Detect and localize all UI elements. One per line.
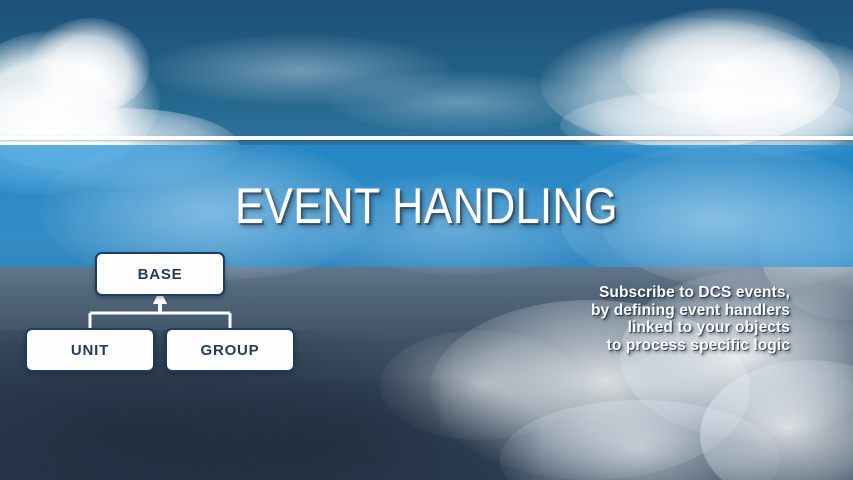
diagram-node-base-label: BASE bbox=[138, 266, 183, 283]
cloud-upper-right bbox=[540, 18, 840, 148]
cloud-lower-right-edge bbox=[700, 360, 853, 480]
diagram-node-unit[interactable]: UNIT bbox=[25, 328, 155, 372]
caption-block: Subscribe to DCS events, by defining eve… bbox=[591, 284, 790, 354]
cirrus-wisp-center bbox=[330, 72, 590, 132]
cloud-bottom-center bbox=[500, 400, 780, 480]
diagram-node-group-label: GROUP bbox=[200, 342, 259, 359]
cloud-upper-right-edge bbox=[700, 40, 853, 160]
caption-line-1: Subscribe to DCS events, bbox=[591, 284, 790, 302]
caption-line-2: by defining event handlers bbox=[591, 302, 790, 320]
slide-canvas: EVENT HANDLING BASE UNIT GROUP Subscribe… bbox=[0, 0, 853, 480]
cloud-upper-right-top bbox=[620, 8, 830, 118]
class-diagram: BASE UNIT GROUP bbox=[0, 0, 360, 400]
caption-line-4: to process specific logic bbox=[591, 337, 790, 355]
caption-line-3: linked to your objects bbox=[591, 319, 790, 337]
diagram-node-base[interactable]: BASE bbox=[95, 252, 225, 296]
diagram-node-group[interactable]: GROUP bbox=[165, 328, 295, 372]
diagram-node-unit-label: UNIT bbox=[71, 342, 109, 359]
